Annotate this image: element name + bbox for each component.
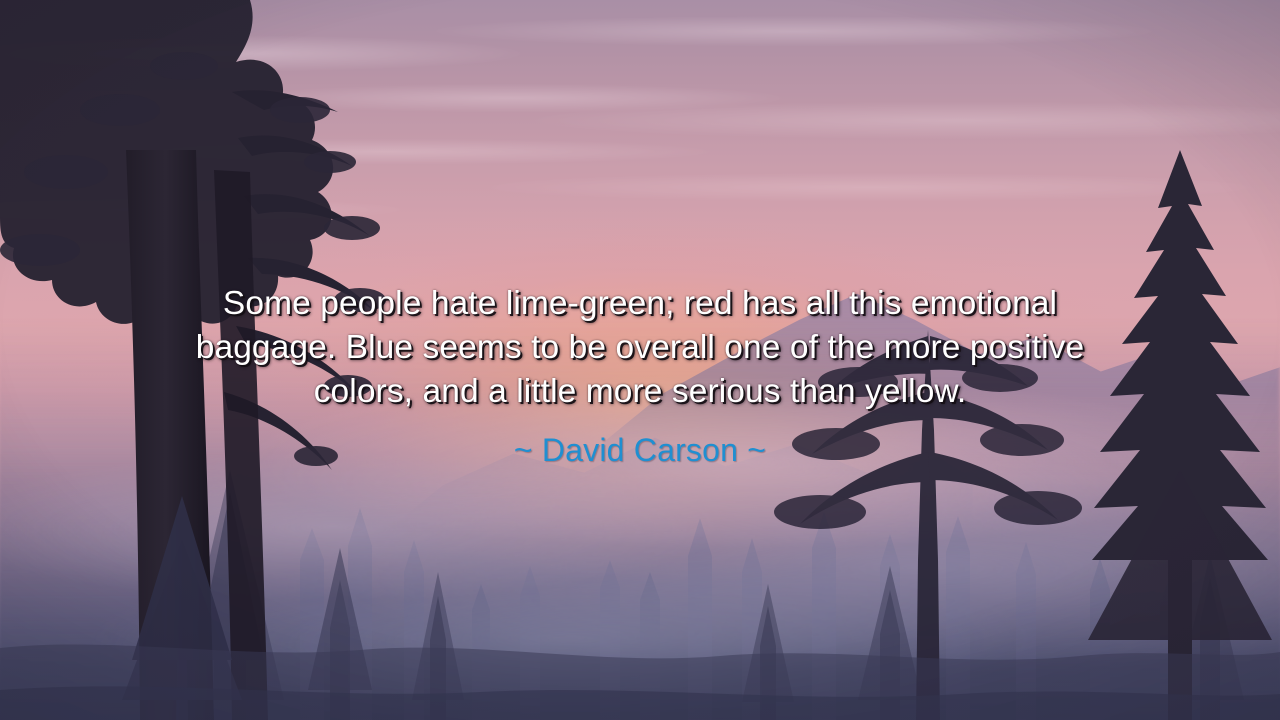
quote-text: Some people hate lime-green; red has all… [100,282,1180,414]
quote-attribution: ~ David Carson ~ [100,414,1180,470]
quote-block: Some people hate lime-green; red has all… [100,282,1180,470]
quote-wallpaper: Some people hate lime-green; red has all… [0,0,1280,720]
